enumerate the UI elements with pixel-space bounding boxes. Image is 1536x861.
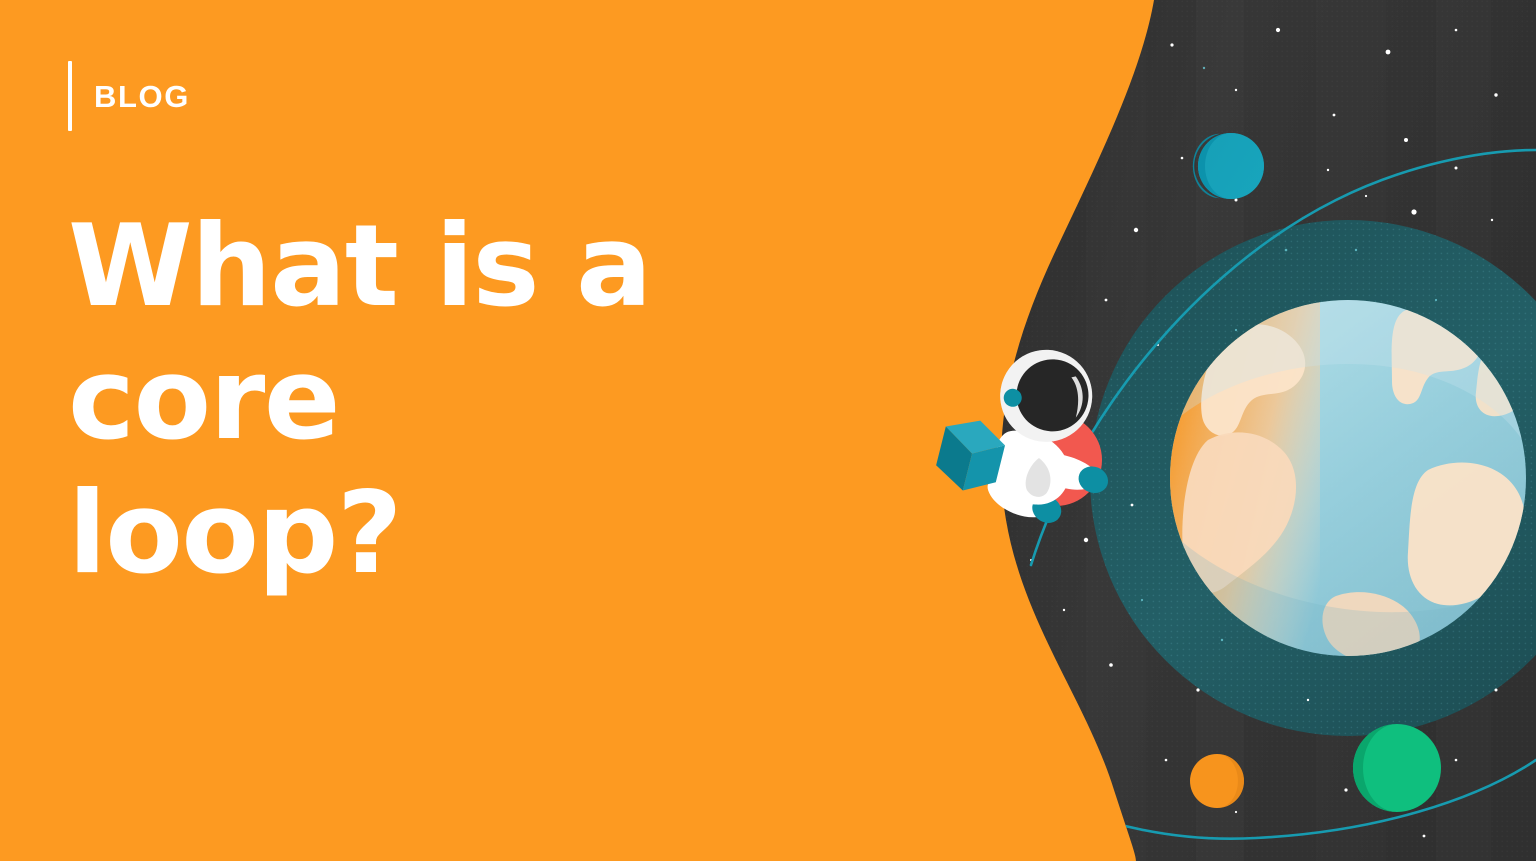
eyebrow-rule-icon xyxy=(68,61,72,131)
blog-banner: BLOG What is a coreloop? xyxy=(0,0,1536,861)
eyebrow: BLOG xyxy=(68,60,908,132)
planet-orange-small xyxy=(1190,754,1244,808)
page-title-line-1: What is a core xyxy=(68,200,651,465)
eyebrow-label: BLOG xyxy=(94,81,190,112)
planet-green xyxy=(1353,724,1441,812)
space-scene-illustration xyxy=(936,0,1536,861)
page-title-line-2: loop? xyxy=(68,467,401,599)
planet-teal-small xyxy=(1193,133,1264,199)
page-title: What is a coreloop? xyxy=(68,200,868,600)
text-block: BLOG What is a coreloop? xyxy=(68,60,908,600)
